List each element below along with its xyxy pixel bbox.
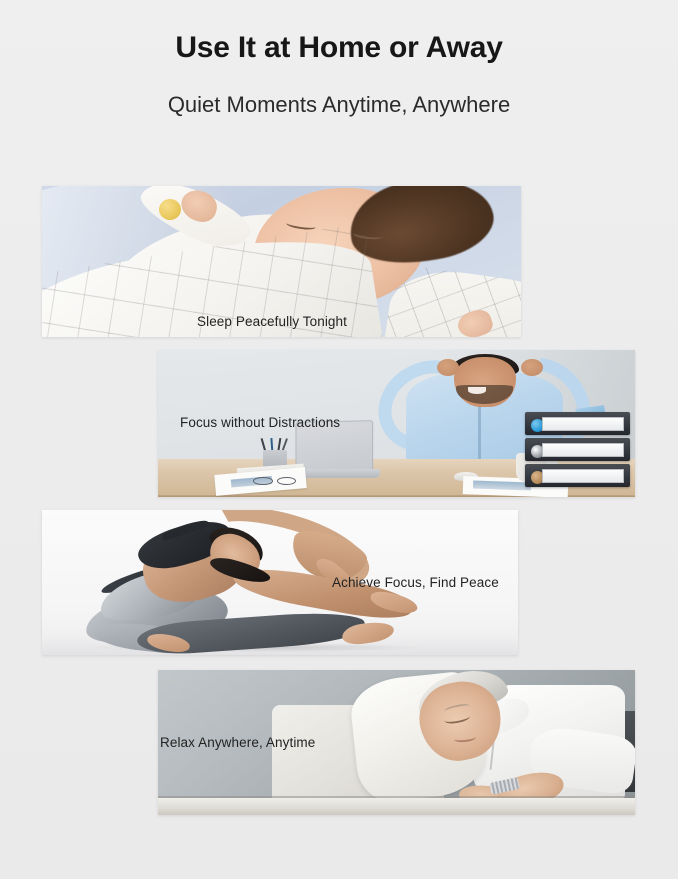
panel-caption: Achieve Focus, Find Peace — [332, 575, 499, 590]
binder-middle — [525, 438, 630, 461]
panel-caption: Sleep Peacefully Tonight — [197, 314, 347, 329]
eyeglasses-icon — [253, 475, 296, 485]
sofa-seam — [158, 796, 635, 798]
binder-label — [542, 417, 624, 431]
man-hand-left — [437, 359, 459, 376]
panel-focus[interactable]: Focus without Distractions — [158, 350, 635, 497]
panel-list: Sleep Peacefully Tonight — [0, 0, 678, 879]
sofa-seat — [158, 798, 635, 815]
man-hand-right — [521, 359, 543, 376]
page-title: Use It at Home or Away — [0, 30, 678, 66]
binder-top — [525, 412, 630, 435]
panel-caption: Focus without Distractions — [180, 415, 340, 430]
header: Use It at Home or Away Quiet Moments Any… — [0, 0, 678, 118]
man-smile — [468, 387, 486, 394]
panel-caption: Relax Anywhere, Anytime — [160, 735, 315, 750]
binder-label — [542, 469, 624, 483]
page-subtitle: Quiet Moments Anytime, Anywhere — [0, 92, 678, 118]
binder-bottom — [525, 464, 630, 487]
panel-relax[interactable]: Relax Anywhere, Anytime — [158, 670, 635, 815]
binder-label — [542, 443, 624, 457]
binder-stack — [525, 412, 630, 488]
baby-toy — [159, 199, 181, 220]
panel-peace[interactable]: Achieve Focus, Find Peace — [42, 510, 518, 655]
panel-sleep[interactable]: Sleep Peacefully Tonight — [42, 186, 521, 337]
